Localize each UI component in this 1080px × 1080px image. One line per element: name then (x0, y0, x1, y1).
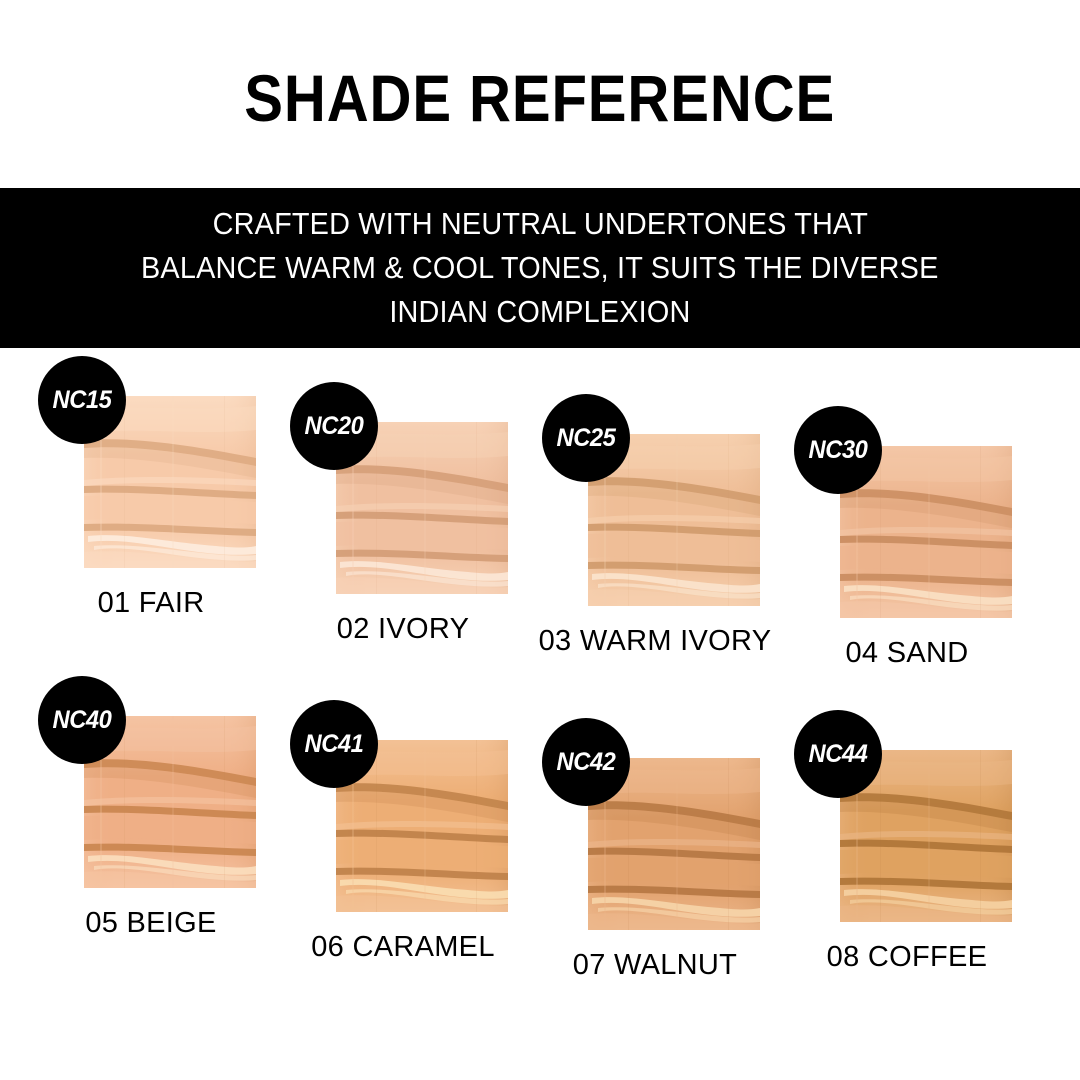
shade-badge-label: NC42 (557, 748, 616, 777)
shade-name-label: 08 COFFEE (782, 938, 1032, 976)
shade-swatch-grid: NC1501 FAIR (0, 348, 1080, 1080)
page-title: SHADE REFERENCE (245, 62, 836, 134)
shade-name-label: 07 WALNUT (530, 946, 780, 984)
swatch-box: NC30 (840, 446, 1012, 618)
shade-name-label: 03 WARM IVORY (530, 622, 780, 660)
shade-name-label: 06 CARAMEL (278, 928, 528, 966)
banner-line-1: CRAFTED WITH NEUTRAL UNDERTONES THAT (212, 202, 867, 246)
shade-badge-label: NC41 (305, 730, 364, 759)
shade-badge-label: NC25 (557, 424, 616, 453)
shade-badge-nc40: NC40 (38, 676, 126, 764)
shade-badge-nc41: NC41 (290, 700, 378, 788)
swatch-box: NC44 (840, 750, 1012, 922)
swatch-box: NC20 (336, 422, 508, 594)
swatch-box: NC40 (84, 716, 256, 888)
shade-name-label: 05 BEIGE (26, 904, 276, 942)
shade-cell-nc41[interactable]: NC4106 CARAMEL (278, 740, 528, 966)
shade-cell-nc25[interactable]: NC2503 WARM IVORY (530, 434, 780, 660)
shade-badge-nc15: NC15 (38, 356, 126, 444)
banner-line-2: BALANCE WARM & COOL TONES, IT SUITS THE … (141, 246, 938, 290)
page-title-container: SHADE REFERENCE (0, 62, 1080, 134)
shade-name-label: 02 IVORY (278, 610, 528, 648)
shade-badge-label: NC40 (53, 706, 112, 735)
shade-badge-label: NC15 (53, 386, 112, 415)
shade-cell-nc30[interactable]: NC3004 SAND (782, 446, 1032, 672)
swatch-box: NC25 (588, 434, 760, 606)
shade-cell-nc44[interactable]: NC4408 COFFEE (782, 750, 1032, 976)
shade-cell-nc42[interactable]: NC4207 WALNUT (530, 758, 780, 984)
swatch-box: NC42 (588, 758, 760, 930)
shade-name-label: 01 FAIR (26, 584, 276, 622)
shade-badge-label: NC44 (809, 740, 868, 769)
shade-cell-nc15[interactable]: NC1501 FAIR (26, 396, 276, 622)
shade-cell-nc20[interactable]: NC2002 IVORY (278, 422, 528, 648)
shade-badge-nc44: NC44 (794, 710, 882, 798)
shade-badge-label: NC20 (305, 412, 364, 441)
description-banner: CRAFTED WITH NEUTRAL UNDERTONES THAT BAL… (0, 188, 1080, 348)
swatch-box: NC41 (336, 740, 508, 912)
shade-badge-nc30: NC30 (794, 406, 882, 494)
swatch-box: NC15 (84, 396, 256, 568)
shade-name-label: 04 SAND (782, 634, 1032, 672)
shade-badge-label: NC30 (809, 436, 868, 465)
shade-badge-nc25: NC25 (542, 394, 630, 482)
shade-badge-nc42: NC42 (542, 718, 630, 806)
banner-line-3: INDIAN COMPLEXION (389, 290, 690, 334)
shade-cell-nc40[interactable]: NC4005 BEIGE (26, 716, 276, 942)
shade-badge-nc20: NC20 (290, 382, 378, 470)
